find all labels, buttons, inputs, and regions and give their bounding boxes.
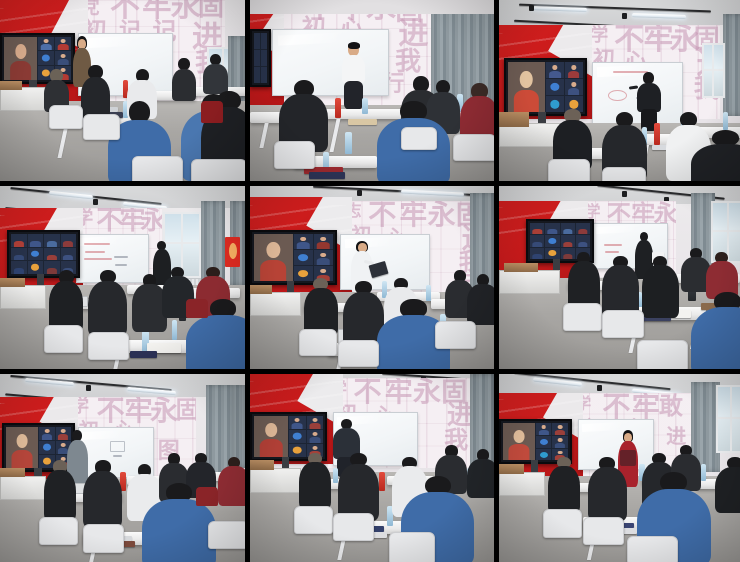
video-tile bbox=[552, 436, 567, 448]
wood-panel bbox=[0, 278, 25, 287]
collage-photo-4[interactable]: 学 不 牢 永 初 心 bbox=[0, 186, 245, 369]
notebook bbox=[348, 119, 377, 124]
video-tile bbox=[546, 62, 564, 78]
video-tile bbox=[307, 430, 324, 443]
video-tile bbox=[28, 261, 43, 274]
video-tile bbox=[38, 51, 54, 65]
curtain bbox=[233, 385, 245, 468]
curtain bbox=[723, 14, 740, 115]
light-mount bbox=[529, 5, 534, 11]
video-call-grid bbox=[254, 33, 267, 83]
video-tile bbox=[576, 235, 590, 246]
attendee bbox=[588, 457, 627, 521]
attendee bbox=[81, 65, 110, 119]
photo-collage-grid: 党 不 牢 永 固 初 记 记 进 我 bbox=[0, 0, 740, 557]
video-tile bbox=[254, 50, 260, 66]
attendee bbox=[299, 453, 331, 509]
video-tile bbox=[289, 416, 306, 429]
video-tile bbox=[55, 37, 71, 51]
window bbox=[716, 385, 740, 453]
chair bbox=[637, 340, 688, 369]
back-wall bbox=[250, 0, 494, 14]
video-tile bbox=[552, 423, 567, 435]
attendee bbox=[88, 270, 127, 336]
video-tile bbox=[38, 37, 54, 51]
backpack bbox=[201, 101, 223, 123]
screen-stand bbox=[287, 281, 294, 292]
video-tile bbox=[565, 62, 583, 78]
video-tile bbox=[44, 248, 59, 261]
backpack bbox=[186, 299, 208, 317]
chair bbox=[83, 114, 119, 140]
video-tile bbox=[289, 430, 306, 443]
video-tile bbox=[254, 33, 260, 49]
chair bbox=[299, 329, 338, 357]
chair bbox=[583, 517, 624, 545]
video-tile bbox=[28, 234, 43, 247]
video-tile bbox=[11, 248, 26, 261]
video-tile bbox=[11, 234, 26, 247]
video-tile bbox=[4, 37, 37, 80]
video-call-grid bbox=[508, 62, 583, 112]
video-tile bbox=[314, 234, 333, 249]
side-cabinet bbox=[250, 292, 301, 316]
screen-stand bbox=[531, 460, 538, 471]
video-tile bbox=[530, 248, 544, 259]
video-tile bbox=[561, 235, 575, 246]
chair bbox=[274, 141, 315, 168]
light-mount bbox=[597, 385, 602, 391]
whiteboard-writing bbox=[84, 258, 112, 260]
video-tile bbox=[536, 436, 551, 448]
whiteboard-writing bbox=[115, 264, 126, 266]
whiteboard-writing bbox=[605, 251, 618, 253]
video-tile bbox=[545, 248, 559, 259]
video-conference-screen[interactable] bbox=[504, 58, 587, 116]
water-bottle bbox=[362, 98, 367, 114]
video-tile bbox=[39, 427, 54, 440]
light-mount bbox=[357, 190, 362, 196]
video-tile bbox=[576, 223, 590, 234]
whiteboard-writing bbox=[85, 251, 105, 253]
video-tile bbox=[561, 223, 575, 234]
video-call-grid bbox=[254, 416, 323, 457]
collage-photo-9[interactable]: 学 不 牢 敢 初 心 进 bbox=[499, 374, 740, 562]
chair bbox=[44, 325, 83, 353]
video-call-grid bbox=[254, 234, 333, 281]
window bbox=[702, 43, 726, 98]
chair bbox=[389, 532, 435, 562]
chair bbox=[548, 159, 589, 181]
video-tile bbox=[55, 51, 71, 65]
video-tile bbox=[254, 234, 293, 281]
chair bbox=[338, 340, 379, 368]
whiteboard-writing bbox=[84, 243, 110, 245]
side-cabinet bbox=[0, 285, 46, 309]
video-tile bbox=[261, 67, 267, 83]
wood-panel bbox=[499, 464, 524, 473]
video-tile bbox=[11, 261, 26, 274]
collage-photo-6[interactable]: 学 不 牢 永 初 心 bbox=[499, 186, 740, 369]
wood-panel bbox=[250, 285, 272, 294]
video-tile bbox=[565, 79, 583, 95]
video-tile bbox=[546, 79, 564, 95]
screen-stand bbox=[282, 457, 289, 468]
chair bbox=[602, 310, 643, 338]
wood-panel bbox=[0, 81, 22, 90]
video-tile bbox=[261, 50, 267, 66]
video-call-grid bbox=[503, 423, 568, 460]
video-tile bbox=[314, 250, 333, 265]
collage-photo-2[interactable]: 党 不 牢 永 固 初 心 进 我 行 bbox=[250, 0, 494, 181]
side-cabinet bbox=[0, 476, 46, 501]
light-mount bbox=[622, 191, 627, 197]
light-mount bbox=[86, 385, 91, 391]
attendee bbox=[642, 256, 679, 318]
video-call-grid bbox=[11, 234, 76, 274]
collage-photo-1[interactable]: 党 不 牢 永 固 初 记 记 进 我 bbox=[0, 0, 245, 181]
side-cabinet bbox=[499, 270, 560, 294]
chair bbox=[83, 524, 124, 552]
attendee-foreground bbox=[691, 130, 740, 181]
video-tile bbox=[545, 235, 559, 246]
chair bbox=[627, 536, 678, 562]
chair bbox=[333, 513, 374, 541]
video-tile bbox=[508, 62, 545, 112]
attendee bbox=[304, 278, 338, 337]
collage-photo-5[interactable]: 志 不 牢 永 固 初 心 进 我 行 bbox=[250, 186, 494, 369]
water-bottle bbox=[172, 320, 178, 340]
chair bbox=[132, 156, 183, 181]
video-conference-screen[interactable] bbox=[250, 29, 271, 87]
notebook bbox=[309, 172, 346, 179]
video-tile bbox=[503, 423, 535, 460]
video-tile bbox=[61, 248, 76, 261]
collage-photo-8[interactable]: 学 不 牢 永 固 初 心 进 我 bbox=[250, 374, 494, 562]
video-tile bbox=[254, 67, 260, 83]
chair bbox=[49, 105, 83, 129]
video-tile bbox=[530, 235, 544, 246]
chair bbox=[543, 509, 582, 537]
video-tile bbox=[294, 234, 313, 249]
chair bbox=[208, 521, 245, 549]
video-tile bbox=[39, 441, 54, 454]
chair bbox=[453, 134, 494, 161]
whiteboard-writing bbox=[604, 244, 622, 246]
water-bottle bbox=[723, 112, 728, 130]
chair bbox=[401, 127, 437, 151]
collage-photo-7[interactable]: 学 不 牢 永 固 初 心 图 bbox=[0, 374, 245, 562]
collage-photo-3[interactable]: 学 不 牢 永 固 初 心 进 我 bbox=[499, 0, 740, 181]
chair bbox=[88, 332, 129, 360]
video-tile bbox=[261, 33, 267, 49]
chair bbox=[563, 303, 602, 331]
video-tile bbox=[307, 416, 324, 429]
video-tile bbox=[530, 223, 544, 234]
video-tile bbox=[44, 234, 59, 247]
attendee bbox=[715, 457, 740, 513]
chair bbox=[294, 506, 333, 534]
video-tile bbox=[6, 427, 38, 468]
attendee bbox=[548, 457, 580, 513]
thermos bbox=[335, 98, 341, 118]
video-tile bbox=[61, 234, 76, 247]
video-tile bbox=[28, 248, 43, 261]
whiteboard-writing bbox=[608, 90, 628, 102]
video-tile bbox=[254, 416, 288, 457]
water-bottle bbox=[345, 132, 351, 154]
thermos bbox=[654, 123, 660, 145]
wood-panel bbox=[250, 460, 274, 469]
light-mount bbox=[622, 13, 627, 19]
backpack bbox=[196, 487, 218, 506]
notebook bbox=[130, 351, 157, 358]
whiteboard-writing bbox=[113, 455, 122, 457]
attendee bbox=[203, 54, 228, 94]
attendee-foreground bbox=[691, 292, 740, 369]
light-mount bbox=[93, 199, 98, 205]
video-tile bbox=[545, 223, 559, 234]
side-cabinet bbox=[250, 468, 301, 493]
wood-panel bbox=[0, 468, 25, 477]
attendee bbox=[602, 256, 639, 318]
wood-panel bbox=[499, 112, 529, 126]
whiteboard-writing bbox=[110, 441, 125, 452]
attendee bbox=[44, 460, 76, 520]
side-cabinet bbox=[499, 472, 545, 497]
wood-panel bbox=[504, 263, 538, 272]
attendee bbox=[218, 457, 245, 506]
video-tile bbox=[536, 423, 551, 435]
screen-stand bbox=[553, 259, 560, 270]
video-tile bbox=[294, 250, 313, 265]
attendee bbox=[568, 252, 600, 311]
chair bbox=[435, 321, 476, 349]
thermos bbox=[379, 472, 385, 491]
attendee bbox=[83, 460, 122, 528]
chair bbox=[39, 517, 78, 545]
attendee bbox=[338, 453, 379, 521]
attendee bbox=[49, 270, 83, 332]
whiteboard-writing bbox=[114, 256, 128, 258]
wall-poster bbox=[225, 237, 240, 266]
chair bbox=[602, 167, 646, 181]
chair bbox=[191, 159, 245, 181]
attendee bbox=[467, 274, 494, 325]
